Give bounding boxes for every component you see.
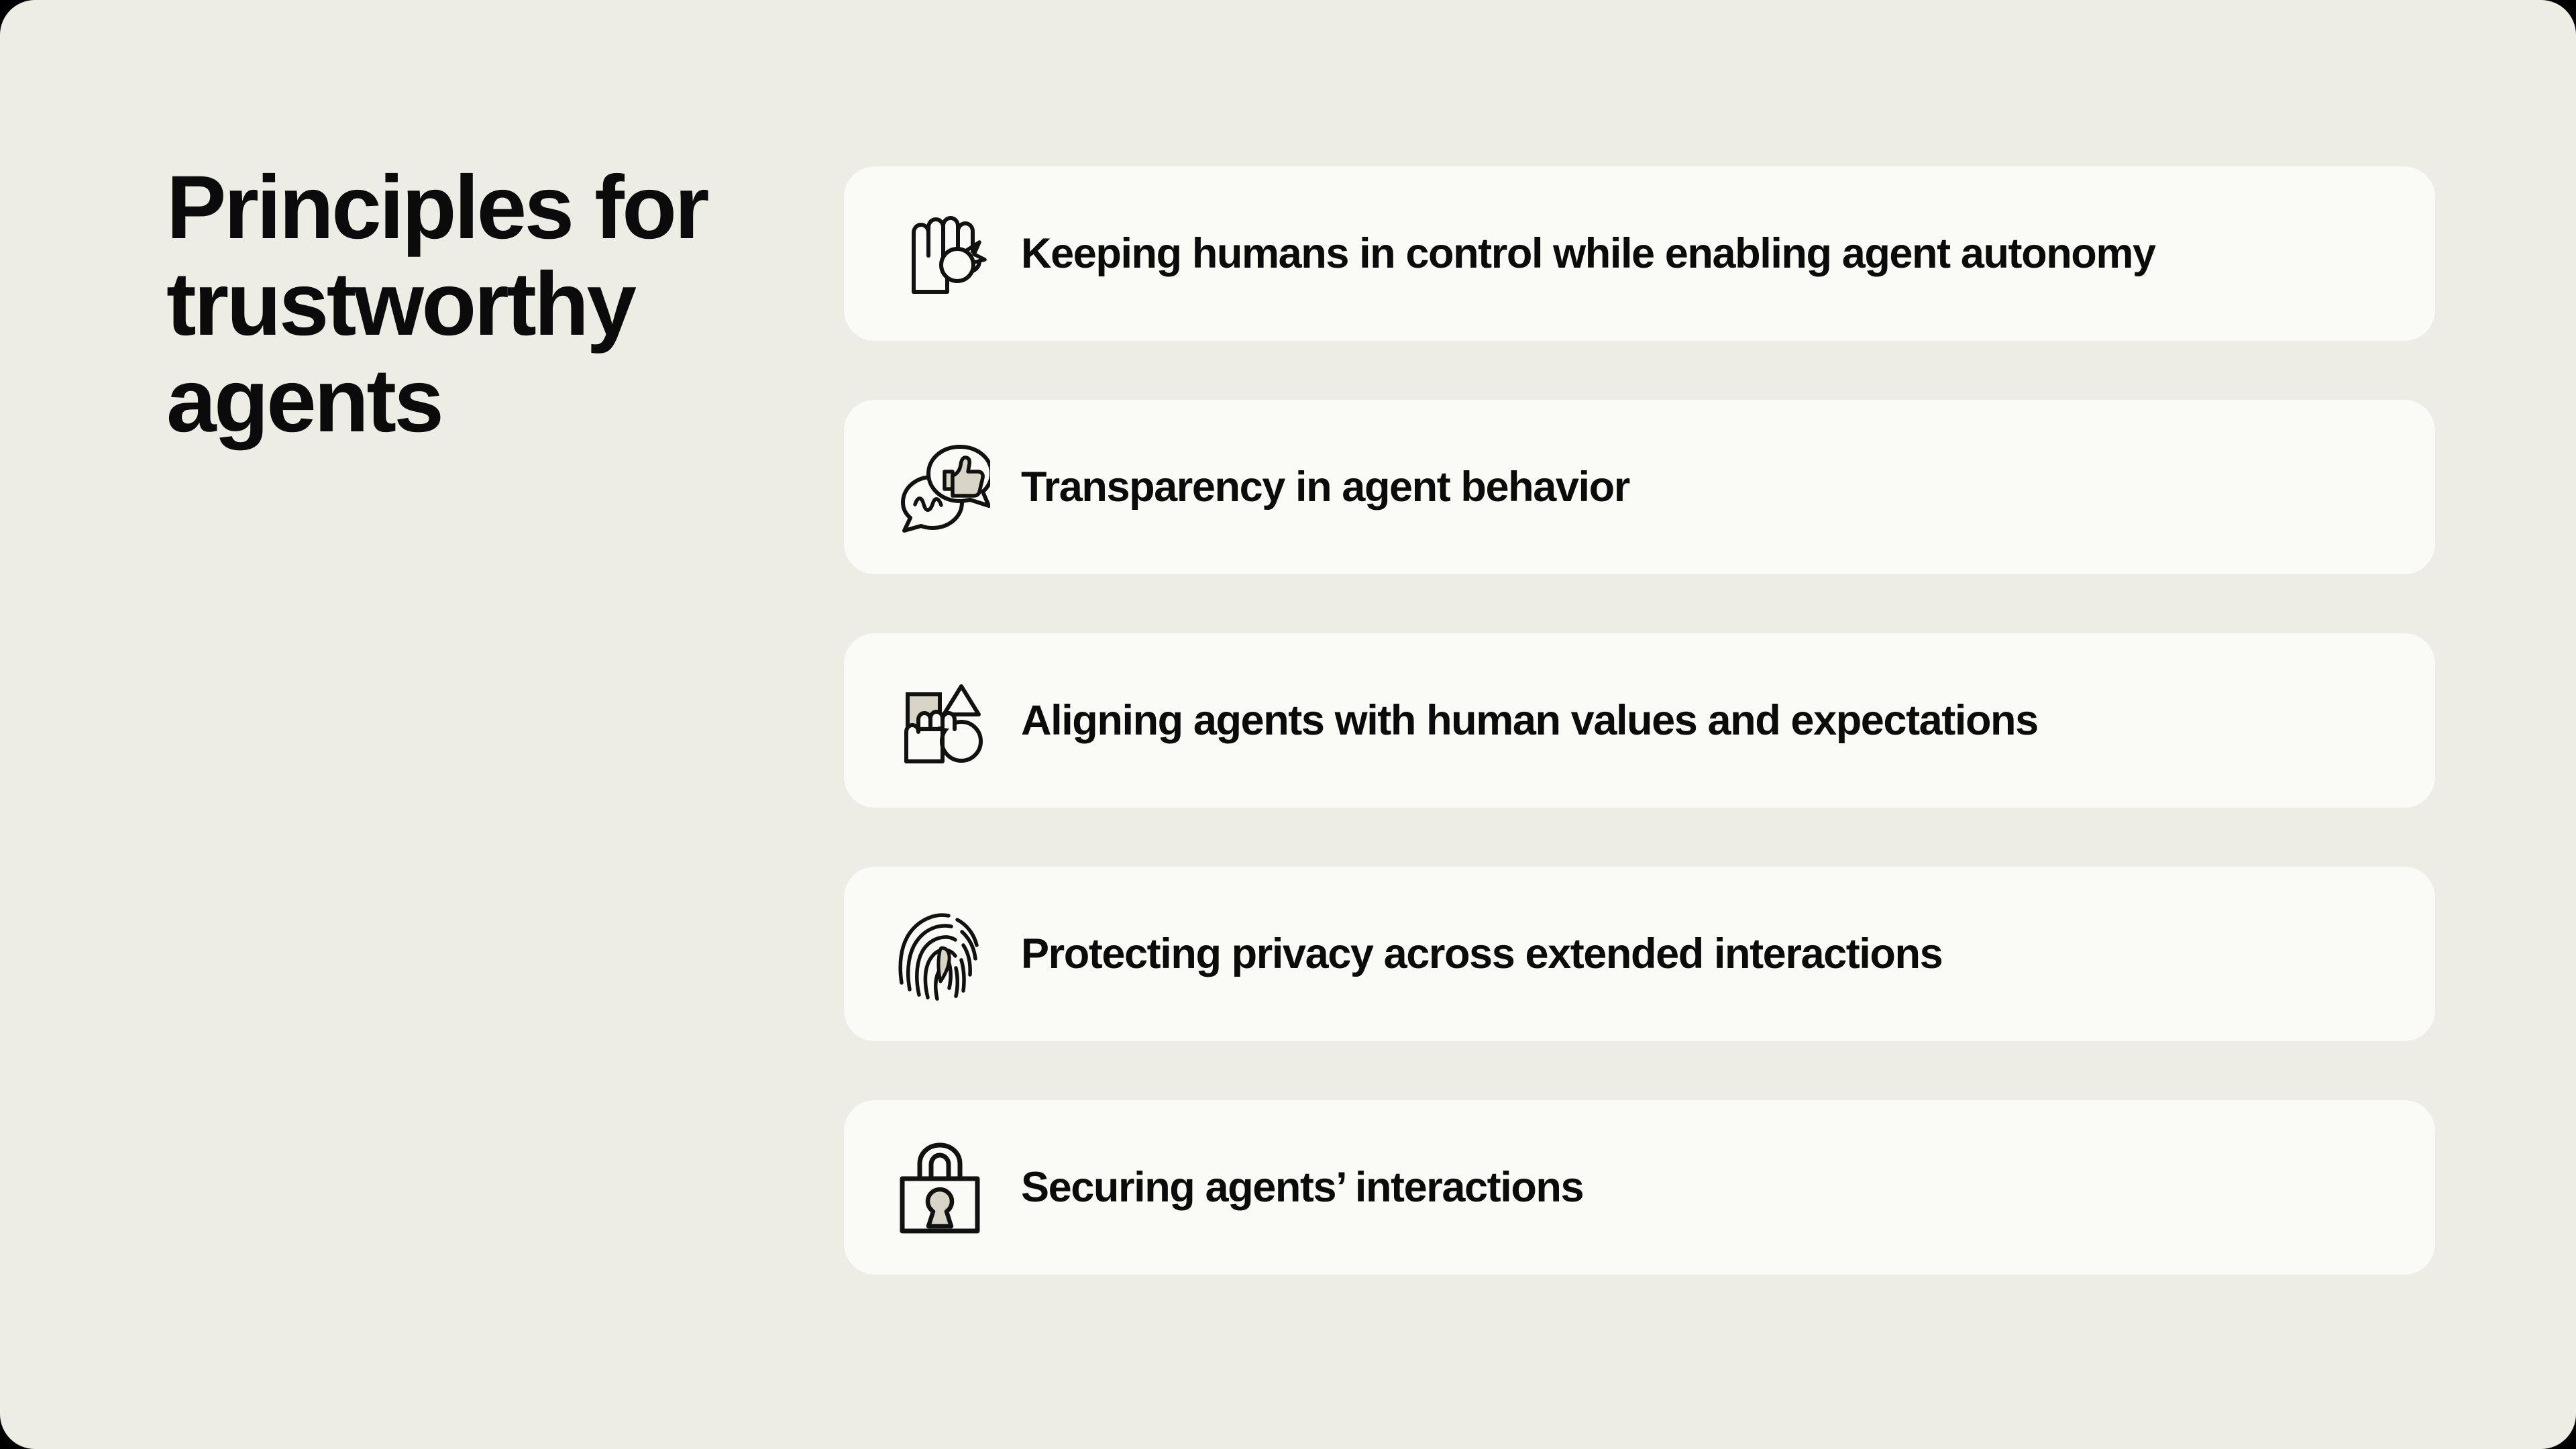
page-title: Principles for trustworthy agents: [166, 160, 790, 449]
principle-label: Keeping humans in control while enabling…: [1021, 229, 2155, 278]
principle-card-5[interactable]: Securing agents’ interactions: [844, 1100, 2435, 1275]
slide-canvas: Principles for trustworthy agents Keepin…: [0, 0, 2576, 1449]
speech-bubbles-thumbs-up-icon: [876, 423, 1004, 551]
hand-ok-spark-icon: [876, 190, 1004, 317]
page-title-block: Principles for trustworthy agents: [166, 160, 790, 449]
principles-list: Keeping humans in control while enabling…: [844, 166, 2435, 1275]
padlock-icon: [876, 1124, 1004, 1251]
principle-card-1[interactable]: Keeping humans in control while enabling…: [844, 166, 2435, 341]
principle-card-3[interactable]: Aligning agents with human values and ex…: [844, 633, 2435, 808]
principle-card-4[interactable]: Protecting privacy across extended inter…: [844, 867, 2435, 1041]
fingerprint-icon: [876, 890, 1004, 1018]
principle-label: Transparency in agent behavior: [1021, 463, 1629, 511]
hand-shapes-alignment-icon: [876, 657, 1004, 784]
principle-label: Protecting privacy across extended inter…: [1021, 930, 1942, 978]
principle-card-2[interactable]: Transparency in agent behavior: [844, 400, 2435, 574]
principle-label: Securing agents’ interactions: [1021, 1163, 1583, 1212]
principle-label: Aligning agents with human values and ex…: [1021, 696, 2038, 745]
